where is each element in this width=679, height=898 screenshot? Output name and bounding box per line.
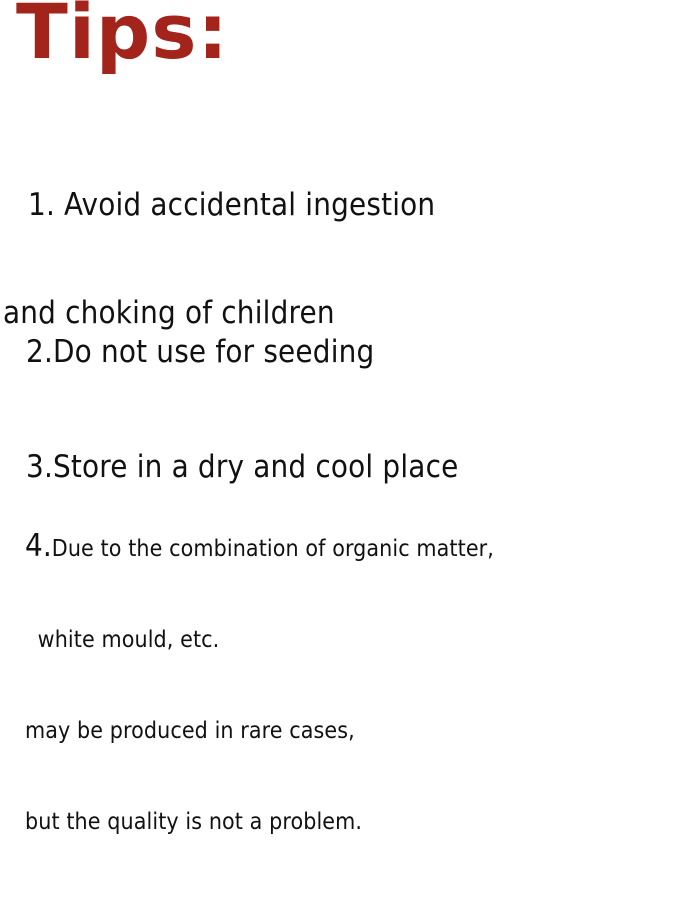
page-title: Tips: — [16, 0, 229, 70]
tip-item-2-line-1: 2.Do not use for seeding — [26, 334, 374, 370]
tip-item-4-number: 4. — [25, 528, 52, 564]
tips-page: Tips: 1. Avoid accidental ingestion and … — [0, 0, 679, 603]
tip-item-4-line-1-text: Due to the combination of organic matter… — [52, 536, 494, 562]
tip-item-1-line-1: 1. Avoid accidental ingestion — [0, 187, 435, 223]
tip-item-4: 4.Due to the combination of organic matt… — [0, 470, 494, 898]
tip-item-4-line-1: 4.Due to the combination of organic matt… — [0, 531, 494, 564]
tip-item-4-line-2: white mould, etc. — [0, 625, 494, 655]
tip-item-4-line-3: may be produced in rare cases, — [0, 716, 494, 746]
tip-item-4-line-4: but the quality is not a problem. — [0, 807, 494, 837]
